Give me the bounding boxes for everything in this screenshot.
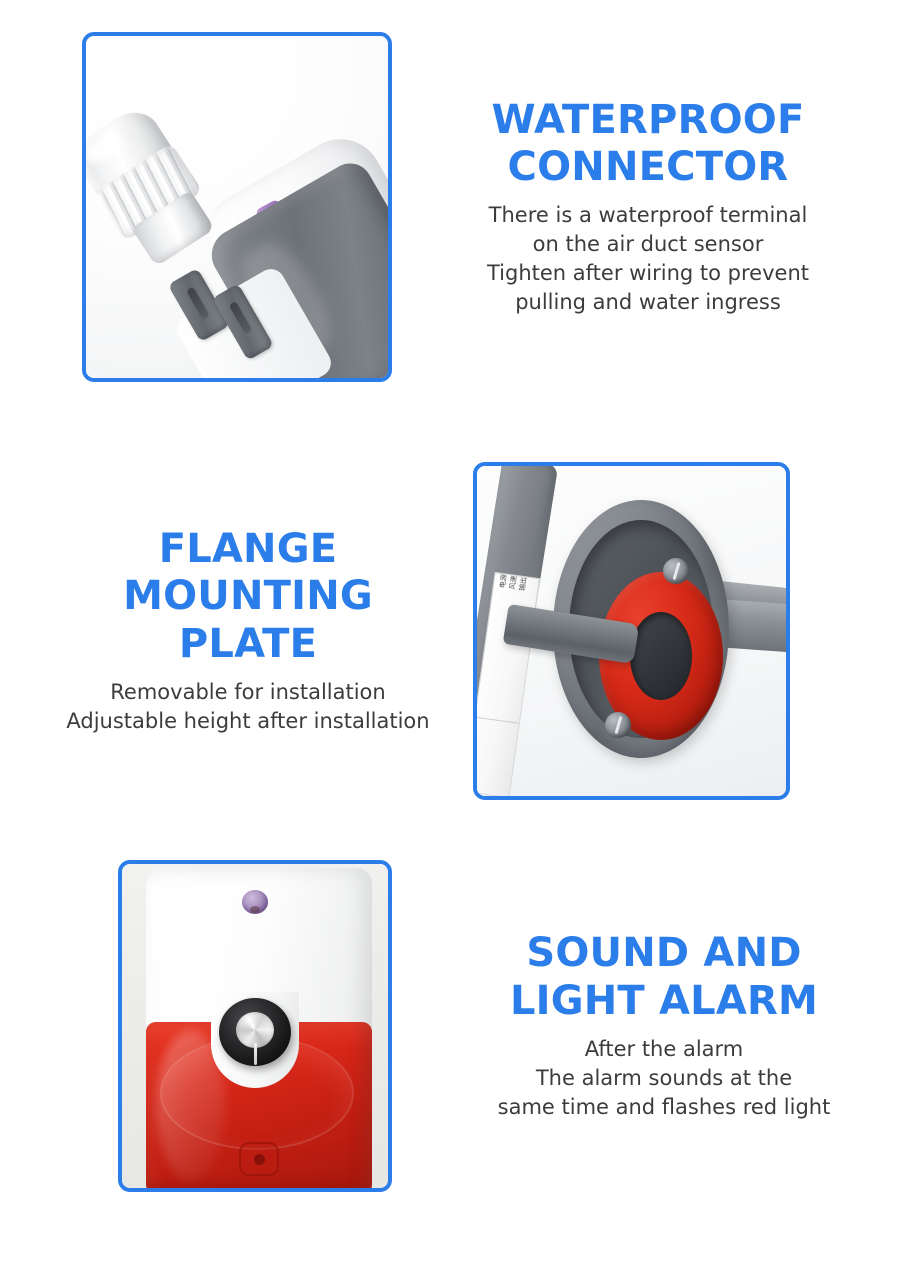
feature-title: WATERPROOF CONNECTOR xyxy=(448,97,848,191)
feature-description: Removable for installation Adjustable he… xyxy=(48,678,448,736)
feature-title: SOUND AND LIGHT ALARM xyxy=(464,930,864,1024)
sounder-vent xyxy=(239,1142,279,1176)
infographic-page: WATERPROOF CONNECTOR There is a waterpro… xyxy=(0,0,900,1261)
waterproof-connector-photo xyxy=(86,36,388,378)
feature-sound-and-light-alarm: SOUND AND LIGHT ALARM After the alarm Th… xyxy=(118,860,864,1192)
flange-mounting-plate-photo: 电源: DC12~24V 风速量程: 0~30m/s 输出信号: RS485 3… xyxy=(477,466,786,796)
product-spec-label-code: 3788B xyxy=(477,725,482,786)
gasket-bore xyxy=(630,612,692,700)
sound-and-light-alarm-photo xyxy=(122,864,388,1188)
waterproof-connector-text: WATERPROOF CONNECTOR There is a waterpro… xyxy=(448,97,848,317)
mounting-slot xyxy=(186,287,210,320)
knob-pointer xyxy=(254,1043,257,1065)
label-divider xyxy=(477,717,519,724)
flange-mounting-plate-photo-frame: 电源: DC12~24V 风速量程: 0~30m/s 输出信号: RS485 3… xyxy=(473,462,790,800)
volume-knob xyxy=(219,998,291,1066)
sound-and-light-alarm-text: SOUND AND LIGHT ALARM After the alarm Th… xyxy=(464,930,864,1121)
indicator-led xyxy=(242,890,268,914)
flange-mounting-plate-text: FLANGE MOUNTING PLATE Removable for inst… xyxy=(48,526,448,736)
waterproof-connector-photo-frame xyxy=(82,32,392,382)
mounting-slot xyxy=(229,301,253,334)
sound-and-light-alarm-photo-frame xyxy=(118,860,392,1192)
feature-description: There is a waterproof terminal on the ai… xyxy=(448,201,848,317)
feature-title: FLANGE MOUNTING PLATE xyxy=(48,526,448,668)
flange-screw-bottom xyxy=(605,712,631,738)
feature-description: After the alarm The alarm sounds at the … xyxy=(464,1035,864,1122)
feature-waterproof-connector: WATERPROOF CONNECTOR There is a waterpro… xyxy=(82,32,848,382)
feature-flange-mounting-plate: FLANGE MOUNTING PLATE Removable for inst… xyxy=(48,462,790,800)
flange-screw-top xyxy=(663,558,689,584)
